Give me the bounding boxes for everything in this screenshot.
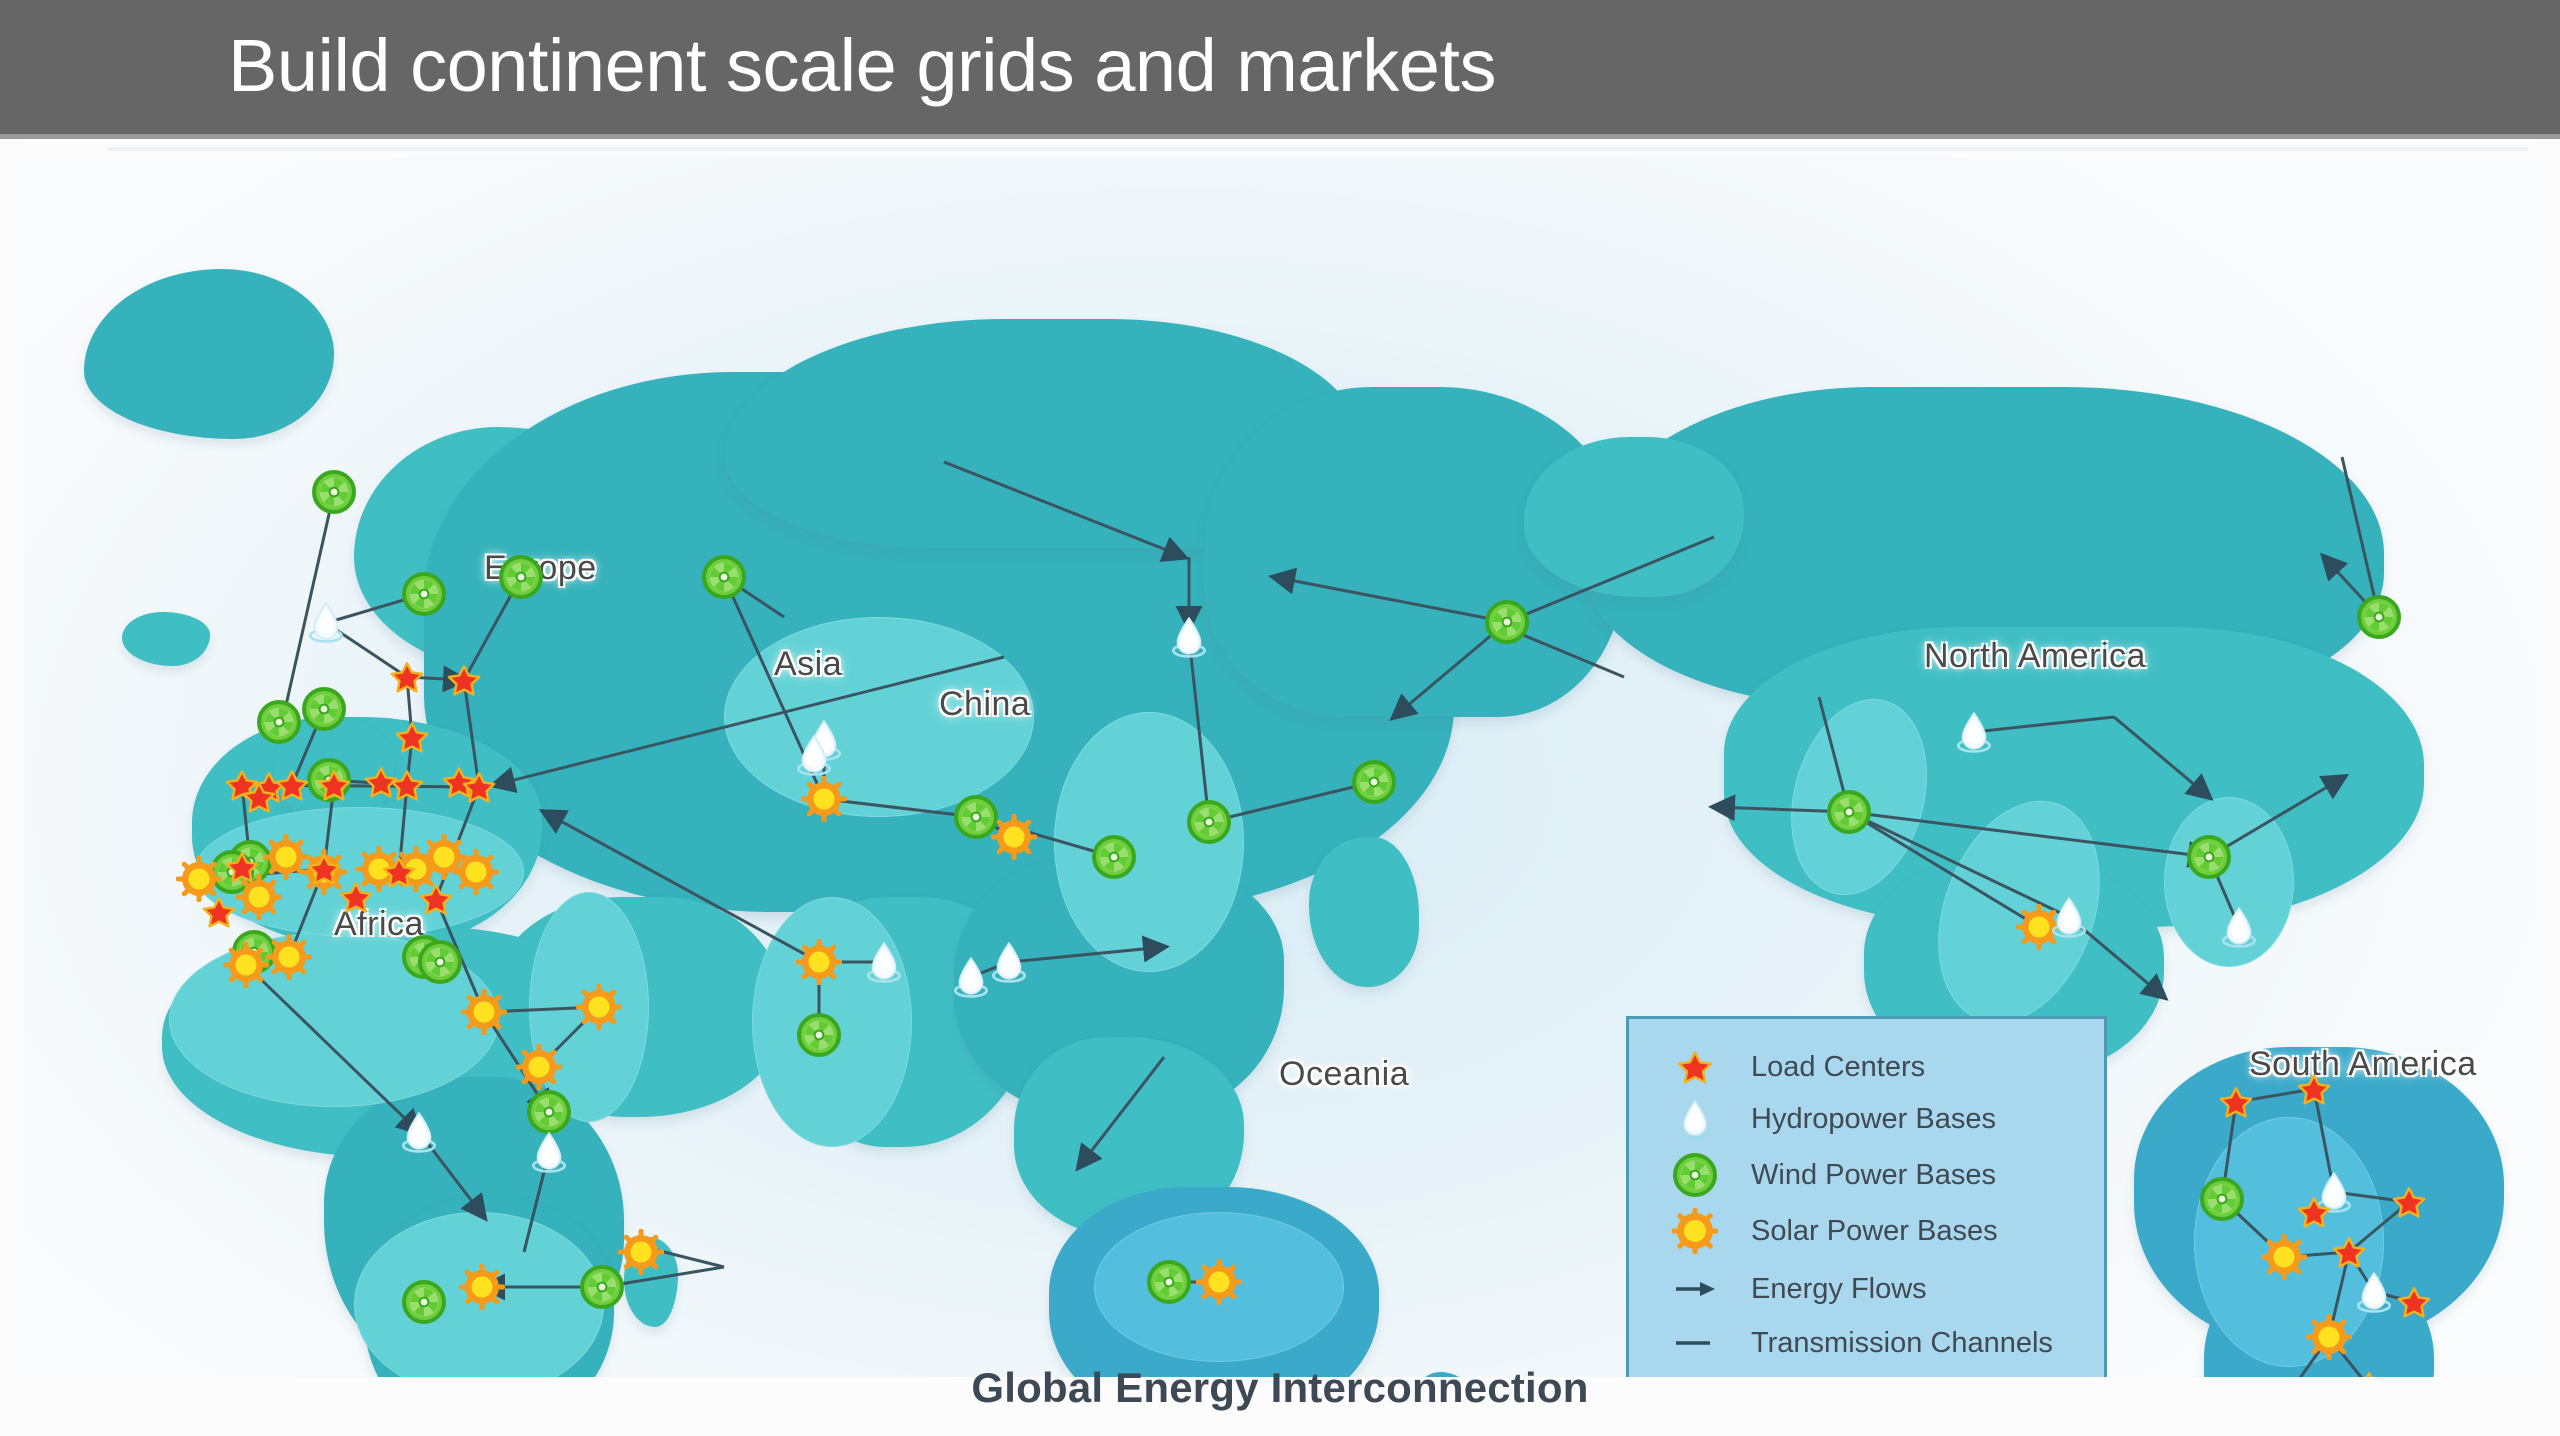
continent-label-oceania: Oceania — [1279, 1055, 1409, 1094]
load-center-star-icon — [1667, 1049, 1723, 1085]
hydropower-droplet-icon — [1167, 614, 1211, 660]
wind-turbine-icon — [498, 554, 544, 600]
wind-turbine-icon — [1484, 599, 1530, 645]
energy-flow-arrow-icon — [1667, 1279, 1723, 1299]
hydropower-droplet-icon — [527, 1129, 571, 1175]
wind-turbine-icon — [2186, 834, 2232, 880]
solar-sun-icon — [801, 776, 847, 822]
solar-sun-icon — [516, 1044, 562, 1090]
solar-sun-icon — [1196, 1259, 1242, 1305]
wind-turbine-icon — [311, 469, 357, 515]
continent-label-north-america: North America — [1924, 637, 2146, 676]
wind-turbine-icon — [1146, 1259, 1192, 1305]
legend-label-wind: Wind Power Bases — [1751, 1159, 1996, 1192]
hydropower-droplet-icon — [2217, 904, 2261, 950]
legend-row-load-centers: Load Centers — [1667, 1041, 1925, 1093]
wind-turbine-icon — [2199, 1176, 2245, 1222]
load-center-star-icon — [2392, 1185, 2426, 1219]
map-caption: Global Energy Interconnection — [24, 1364, 2536, 1412]
load-center-star-icon — [395, 720, 429, 754]
wind-turbine-icon — [1667, 1152, 1723, 1198]
continent-label-south-america: South America — [2249, 1045, 2477, 1084]
solar-sun-icon — [796, 939, 842, 985]
load-center-star-icon — [202, 895, 236, 929]
solar-sun-icon — [461, 989, 507, 1035]
load-center-star-icon — [2297, 1072, 2331, 1106]
slide-header-bar: Build continent scale grids and markets — [0, 0, 2560, 134]
solar-sun-icon — [1667, 1208, 1723, 1254]
slide-root: Build continent scale grids and markets — [0, 0, 2560, 1436]
hydropower-droplet-icon — [304, 599, 348, 645]
load-center-star-icon — [339, 880, 373, 914]
wind-turbine-icon — [1186, 799, 1232, 845]
legend-row-wind: Wind Power Bases — [1667, 1149, 1996, 1201]
solar-sun-icon — [576, 984, 622, 1030]
wind-turbine-icon — [401, 571, 447, 617]
hydropower-droplet-icon — [862, 939, 906, 985]
map-legend: Load Centers Hydropower Bases — [1626, 1016, 2107, 1377]
content-divider-rule — [108, 147, 2528, 151]
continent-label-asia: Asia — [774, 645, 842, 684]
solar-sun-icon — [453, 849, 499, 895]
load-center-star-icon — [390, 660, 424, 694]
solar-sun-icon — [2306, 1314, 2352, 1360]
wind-turbine-icon — [256, 699, 302, 745]
load-center-star-icon — [317, 768, 351, 802]
load-center-star-icon — [462, 770, 496, 804]
load-center-star-icon — [2332, 1235, 2366, 1269]
solar-sun-icon — [2261, 1234, 2307, 1280]
page-title: Build continent scale grids and markets — [228, 16, 1496, 116]
hydropower-droplet-icon — [1667, 1097, 1723, 1141]
hydropower-droplet-icon — [2352, 1269, 2396, 1315]
load-center-star-icon — [2397, 1285, 2431, 1319]
wind-turbine-icon — [301, 686, 347, 732]
landmass-greenland — [84, 269, 334, 439]
load-center-star-icon — [2297, 1195, 2331, 1229]
legend-row-transmission: Transmission Channels — [1667, 1317, 2053, 1369]
world-map-illustration: Europe Asia China Africa Oceania North A… — [24, 157, 2536, 1377]
hydropower-droplet-icon — [397, 1109, 441, 1155]
hydropower-droplet-icon — [949, 954, 993, 1000]
hydropower-droplet-icon — [987, 939, 1031, 985]
wind-turbine-icon — [796, 1012, 842, 1058]
solar-sun-icon — [266, 934, 312, 980]
load-center-star-icon — [242, 780, 276, 814]
legend-label-solar: Solar Power Bases — [1751, 1215, 1998, 1248]
landmass-iceland — [122, 612, 210, 666]
load-center-star-icon — [390, 768, 424, 802]
wind-turbine-icon — [2356, 594, 2402, 640]
legend-label-hydropower: Hydropower Bases — [1751, 1103, 1996, 1136]
hydropower-droplet-icon — [1952, 709, 1996, 755]
wind-turbine-icon — [417, 939, 463, 985]
wind-turbine-icon — [1351, 759, 1397, 805]
hydropower-droplet-icon — [2047, 894, 2091, 940]
load-center-star-icon — [419, 882, 453, 916]
legend-row-hydropower: Hydropower Bases — [1667, 1093, 1996, 1145]
slide-content-area: Europe Asia China Africa Oceania North A… — [24, 139, 2536, 1436]
hydropower-droplet-icon — [792, 732, 836, 778]
landmass-japan — [1309, 837, 1419, 987]
wind-turbine-icon — [1826, 789, 1872, 835]
load-center-star-icon — [275, 768, 309, 802]
solar-sun-icon — [223, 942, 269, 988]
solar-sun-icon — [991, 814, 1037, 860]
load-center-star-icon — [225, 850, 259, 884]
transmission-line-icon — [1667, 1337, 1723, 1349]
wind-turbine-icon — [401, 1279, 447, 1325]
legend-label-energy-flows: Energy Flows — [1751, 1273, 1927, 1306]
legend-row-solar: Solar Power Bases — [1667, 1205, 1998, 1257]
legend-row-energy-flows: Energy Flows — [1667, 1263, 1927, 1315]
load-center-star-icon — [382, 855, 416, 889]
load-center-star-icon — [307, 852, 341, 886]
wind-turbine-icon — [701, 554, 747, 600]
wind-turbine-icon — [1091, 834, 1137, 880]
load-center-star-icon — [447, 663, 481, 697]
landmass-alaska — [1524, 437, 1744, 597]
legend-label-transmission: Transmission Channels — [1751, 1327, 2053, 1360]
continent-label-china: China — [939, 685, 1030, 724]
legend-label-load-centers: Load Centers — [1751, 1051, 1925, 1084]
solar-sun-icon — [618, 1229, 664, 1275]
solar-sun-icon — [459, 1264, 505, 1310]
load-center-star-icon — [2219, 1085, 2253, 1119]
